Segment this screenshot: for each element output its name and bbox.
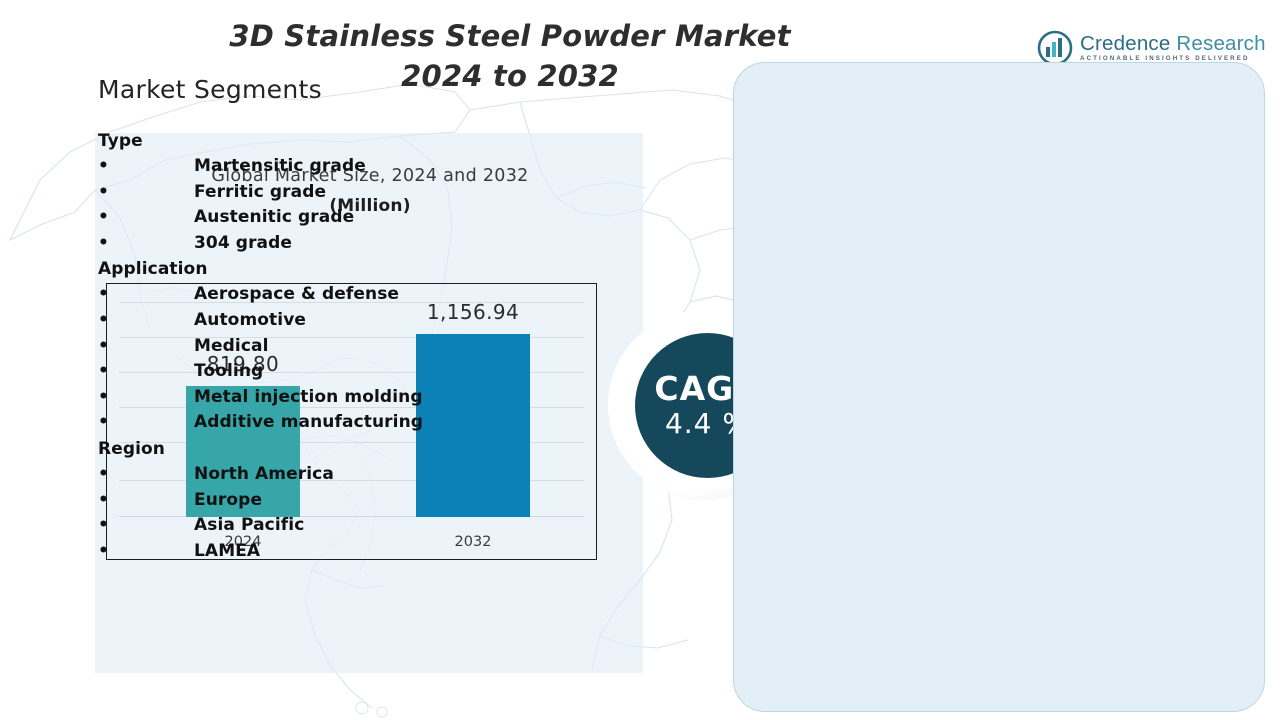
segment-item-label: Austenitic grade [194, 205, 354, 231]
segment-list-item[interactable]: •Ferritic grade [98, 180, 1260, 206]
bullet-icon: • [98, 539, 194, 565]
segment-item-label: Tooling [194, 359, 263, 385]
segment-item-label: LAMEA [194, 539, 260, 565]
segment-item-label: Metal injection molding [194, 385, 423, 411]
bullet-icon: • [98, 231, 194, 257]
bullet-icon: • [98, 205, 194, 231]
segment-item-label: Europe [194, 488, 262, 514]
segment-list-item[interactable]: •Martensitic grade [98, 154, 1260, 180]
segment-list-item[interactable]: •Automotive [98, 308, 1260, 334]
bullet-icon: • [98, 154, 194, 180]
segment-list-item[interactable]: •304 grade [98, 231, 1260, 257]
segment-item-label: 304 grade [194, 231, 292, 257]
bullet-icon: • [98, 334, 194, 360]
logo-name: Credence Research [1080, 33, 1266, 54]
segment-item-label: Ferritic grade [194, 180, 326, 206]
market-segments-list: Type•Martensitic grade•Ferritic grade•Au… [98, 128, 1260, 564]
title-line-1: 3D Stainless Steel Powder Market [225, 16, 795, 56]
logo-name-bold: Credence [1080, 32, 1171, 55]
segment-list-item[interactable]: •Tooling [98, 359, 1260, 385]
segment-list-item[interactable]: •Asia Pacific [98, 513, 1260, 539]
segment-list-item[interactable]: •LAMEA [98, 539, 1260, 565]
infographic-stage: 3D Stainless Steel Powder Market 2024 to… [0, 0, 1280, 720]
bullet-icon: • [98, 282, 194, 308]
bar-chart-circle-icon [1037, 30, 1073, 66]
logo-name-rest: Research [1171, 32, 1266, 55]
bullet-icon: • [98, 488, 194, 514]
segment-item-label: Aerospace & defense [194, 282, 399, 308]
segment-item-label: Additive manufacturing [194, 410, 423, 436]
segment-item-label: Automotive [194, 308, 306, 334]
bullet-icon: • [98, 385, 194, 411]
segment-item-label: North America [194, 462, 334, 488]
bullet-icon: • [98, 359, 194, 385]
bullet-icon: • [98, 410, 194, 436]
segment-group-heading: Type [98, 128, 1260, 154]
segment-list-item[interactable]: •North America [98, 462, 1260, 488]
segment-item-label: Asia Pacific [194, 513, 304, 539]
segment-list-item[interactable]: •Europe [98, 488, 1260, 514]
bullet-icon: • [98, 180, 194, 206]
segment-list-item[interactable]: •Medical [98, 334, 1260, 360]
bullet-icon: • [98, 308, 194, 334]
segment-list-item[interactable]: •Aerospace & defense [98, 282, 1260, 308]
segment-group-heading: Application [98, 256, 1260, 282]
logo-text-block: Credence Research Actionable Insights De… [1080, 33, 1266, 64]
market-segments-title: Market Segments [98, 75, 322, 104]
segment-list-item[interactable]: •Austenitic grade [98, 205, 1260, 231]
segment-item-label: Martensitic grade [194, 154, 366, 180]
bullet-icon: • [98, 462, 194, 488]
segment-list-item[interactable]: •Additive manufacturing [98, 410, 1260, 436]
segment-list-item[interactable]: •Metal injection molding [98, 385, 1260, 411]
segment-group-heading: Region [98, 436, 1260, 462]
segment-item-label: Medical [194, 334, 269, 360]
bullet-icon: • [98, 513, 194, 539]
